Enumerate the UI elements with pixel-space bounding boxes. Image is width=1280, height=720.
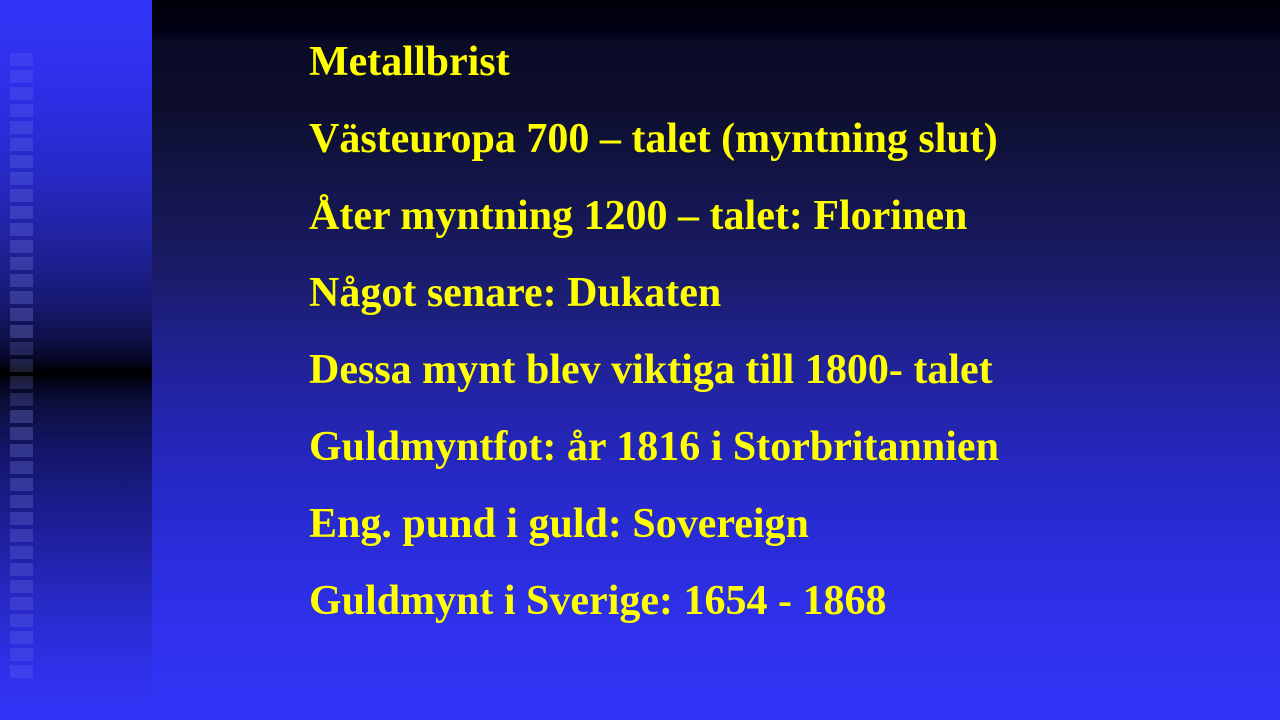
sidebar-decoration-band [0, 0, 152, 720]
sidebar-square [10, 597, 33, 610]
sidebar-square [10, 563, 33, 576]
sidebar-square [10, 546, 33, 559]
slide-line-6: Guldmyntfot: år 1816 i Storbritannien [309, 409, 1249, 486]
sidebar-square [10, 257, 33, 270]
sidebar-square [10, 104, 33, 117]
sidebar-square [10, 427, 33, 440]
sidebar-square [10, 70, 33, 83]
sidebar-square [10, 206, 33, 219]
slide-line-4: Något senare: Dukaten [309, 255, 1249, 332]
sidebar-square-strip [10, 0, 33, 720]
sidebar-square [10, 512, 33, 525]
sidebar-square [10, 240, 33, 253]
sidebar-square [10, 155, 33, 168]
slide-line-7: Eng. pund i guld: Sovereign [309, 486, 1249, 563]
slide-line-8: Guldmynt i Sverige: 1654 - 1868 [309, 563, 1249, 640]
slide-line-3: Åter myntning 1200 – talet: Florinen [309, 178, 1249, 255]
sidebar-square [10, 189, 33, 202]
sidebar-square [10, 648, 33, 661]
sidebar-square [10, 138, 33, 151]
sidebar-square [10, 665, 33, 678]
sidebar-square [10, 172, 33, 185]
sidebar-square [10, 376, 33, 389]
slide-line-2: Västeuropa 700 – talet (myntning slut) [309, 101, 1249, 178]
sidebar-square [10, 291, 33, 304]
sidebar-square [10, 393, 33, 406]
slide-body-text: Metallbrist Västeuropa 700 – talet (mynt… [309, 24, 1249, 640]
sidebar-square [10, 410, 33, 423]
sidebar-square [10, 342, 33, 355]
sidebar-square [10, 274, 33, 287]
sidebar-square [10, 87, 33, 100]
slide-line-1: Metallbrist [309, 24, 1249, 101]
sidebar-square [10, 359, 33, 372]
sidebar-square [10, 53, 33, 66]
slide-line-5: Dessa mynt blev viktiga till 1800- talet [309, 332, 1249, 409]
sidebar-square [10, 529, 33, 542]
sidebar-square [10, 478, 33, 491]
sidebar-square [10, 461, 33, 474]
sidebar-square [10, 121, 33, 134]
sidebar-square [10, 631, 33, 644]
sidebar-square [10, 223, 33, 236]
sidebar-square [10, 325, 33, 338]
sidebar-square [10, 308, 33, 321]
slide-canvas: Metallbrist Västeuropa 700 – talet (mynt… [0, 0, 1280, 720]
sidebar-square [10, 444, 33, 457]
sidebar-square [10, 495, 33, 508]
sidebar-square [10, 580, 33, 593]
sidebar-square [10, 614, 33, 627]
